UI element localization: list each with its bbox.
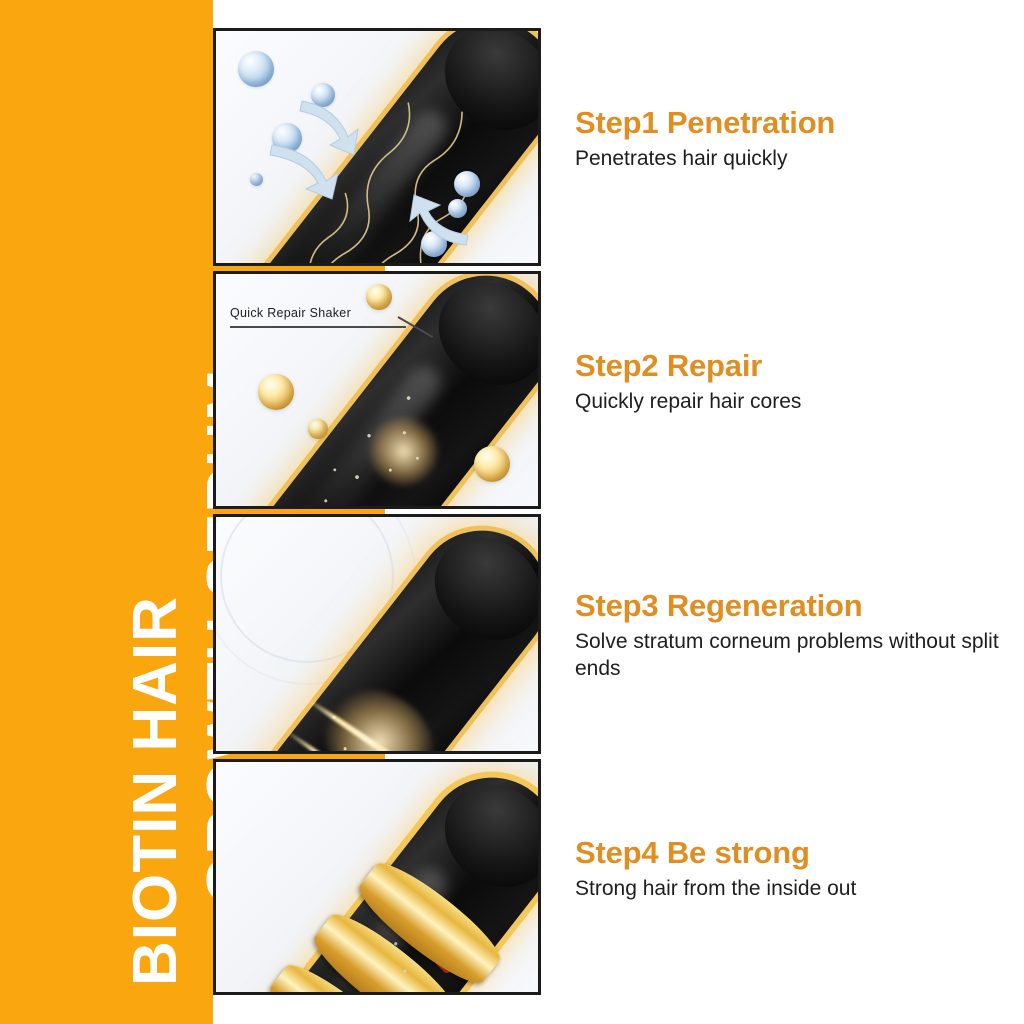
step-2-description: Quickly repair hair cores	[575, 388, 1005, 415]
steps-column: Step1 Penetration Penetrates hair quickl…	[575, 0, 1015, 1024]
step-4-description: Strong hair from the inside out	[575, 875, 1005, 902]
hair-shaft-illustration	[216, 762, 538, 992]
callout-label: Quick Repair Shaker	[230, 306, 420, 320]
callout-quick-repair-shaker: Quick Repair Shaker	[230, 306, 420, 320]
step-1-title: Step1 Penetration	[575, 105, 1005, 141]
gold-serum-droplet	[308, 419, 328, 439]
penetration-arrow	[392, 189, 472, 253]
hair-shaft-tip	[414, 517, 538, 661]
hair-shaft-illustration	[216, 517, 538, 751]
serum-bubble	[238, 51, 274, 87]
serum-bubble	[250, 173, 263, 186]
panel-strong	[213, 759, 541, 995]
product-infographic: BIOTIN HAIR GROWTH SERUM	[0, 0, 1024, 1024]
step-3-title: Step3 Regeneration	[575, 588, 1005, 624]
step-1-description: Penetrates hair quickly	[575, 145, 1005, 172]
gold-serum-droplet	[474, 446, 510, 482]
step-item-1: Step1 Penetration Penetrates hair quickl…	[575, 105, 1005, 172]
step-2-title: Step2 Repair	[575, 348, 1005, 384]
step-item-4: Step4 Be strong Strong hair from the ins…	[575, 835, 1005, 902]
panel-repair: Quick Repair Shaker	[213, 271, 541, 509]
step-3-description: Solve stratum corneum problems without s…	[575, 628, 1005, 682]
step-item-3: Step3 Regeneration Solve stratum corneum…	[575, 588, 1005, 682]
step-4-title: Step4 Be strong	[575, 835, 1005, 871]
penetration-arrow	[268, 139, 356, 205]
panel-penetration	[213, 28, 541, 266]
callout-leader-line	[230, 326, 406, 328]
panel-regeneration	[213, 514, 541, 754]
step-item-2: Step2 Repair Quickly repair hair cores	[575, 348, 1005, 415]
band-notch-bottom	[213, 995, 385, 1024]
gold-serum-droplet	[258, 374, 294, 410]
hair-shaft	[216, 517, 538, 751]
hair-shaft	[216, 762, 538, 992]
band-notch-top	[213, 0, 385, 28]
